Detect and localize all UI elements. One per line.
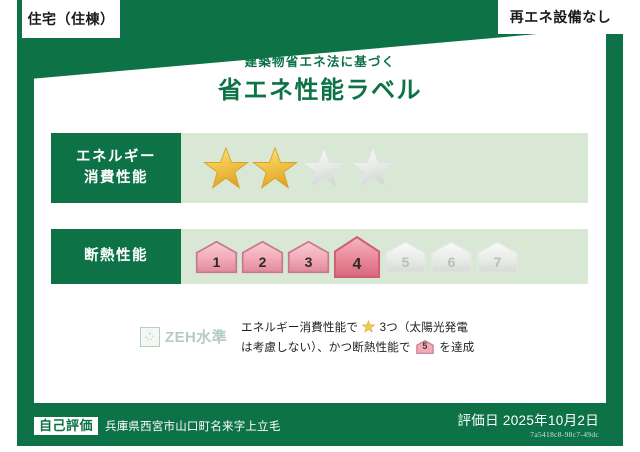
- energy-star-rating: [181, 133, 588, 203]
- label-heading: 建築物省エネ法に基づく 省エネ性能ラベル: [34, 55, 606, 105]
- star-icon-inline: [362, 320, 375, 333]
- insulation-level-scale: 1 2 3 4: [181, 229, 588, 284]
- insulation-level-4-value: 4: [333, 256, 381, 274]
- heading-title: 省エネ性能ラベル: [34, 77, 606, 105]
- insulation-level-5-value: 5: [384, 254, 427, 270]
- energy-performance-label: エネルギー 消費性能: [51, 133, 181, 203]
- zeh-standard-badge: ZEH水準: [140, 326, 227, 347]
- footer-right-group: 評価日 2025年10月2日 7a5418c8-98c7-49dc: [457, 413, 599, 439]
- insulation-level-1-value: 1: [195, 254, 238, 270]
- insulation-level-2-value: 2: [241, 254, 284, 270]
- zeh-desc-line1-pre: エネルギー消費性能で: [241, 321, 358, 334]
- energy-performance-row: エネルギー 消費性能: [51, 133, 588, 203]
- self-evaluation-badge: 自己評価: [34, 417, 98, 436]
- star-icon-empty-3: [301, 145, 347, 191]
- zeh-standard-label: ZEH水準: [165, 326, 227, 347]
- document-hash: 7a5418c8-98c7-49dc: [457, 430, 599, 439]
- star-icon-filled-2: [252, 145, 298, 191]
- label-footer: 自己評価 兵庫県西宮市山口町名来字上立毛 評価日 2025年10月2日 7a54…: [17, 406, 623, 446]
- zeh-description-line2: は考慮しない）、かつ断熱性能で 5 を達成: [241, 338, 474, 358]
- insulation-performance-row: 断熱性能: [51, 229, 588, 284]
- insulation-level-3: 3: [287, 240, 330, 274]
- heading-subtitle: 建築物省エネ法に基づく: [34, 55, 606, 70]
- renewable-energy-tab: 再エネ設備なし: [498, 0, 623, 34]
- zeh-desc-line2-post: を達成: [439, 341, 474, 354]
- zeh-standard-row: ZEH水準 エネルギー消費性能で 3つ（太陽光発電 は考慮しない）、かつ断熱性能…: [140, 318, 580, 359]
- energy-label-line2: 消費性能: [84, 168, 148, 189]
- energy-label-line1: エネルギー: [76, 147, 156, 168]
- building-type-tab: 住宅（住棟）: [22, 0, 120, 38]
- zeh-star-box-icon: [140, 327, 160, 347]
- star-icon-empty-4: [350, 145, 396, 191]
- insulation-level-5: 5: [384, 240, 427, 274]
- zeh-desc-line2-pre: は考慮しない）、かつ断熱性能で: [241, 341, 411, 354]
- zeh-description-line1: エネルギー消費性能で 3つ（太陽光発電: [241, 318, 474, 338]
- insulation-chip-inline: 5: [416, 340, 434, 354]
- insulation-level-3-value: 3: [287, 254, 330, 270]
- energy-performance-label: 住宅（住棟） 再エネ設備なし 建築物省エネ法に基づく 省エネ性能ラベル エネルギ…: [0, 0, 640, 452]
- insulation-level-6-value: 6: [430, 254, 473, 270]
- footer-left-group: 自己評価 兵庫県西宮市山口町名来字上立毛: [34, 417, 281, 436]
- insulation-level-1: 1: [195, 240, 238, 274]
- insulation-chip-inline-value: 5: [416, 339, 434, 355]
- insulation-level-4-current: 4: [333, 235, 381, 279]
- evaluation-date: 評価日 2025年10月2日: [457, 413, 599, 429]
- insulation-level-7: 7: [476, 240, 519, 274]
- insulation-level-7-value: 7: [476, 254, 519, 270]
- insulation-performance-label: 断熱性能: [51, 229, 181, 284]
- zeh-desc-line1-post: 3つ（太陽光発電: [380, 321, 468, 334]
- insulation-level-2: 2: [241, 240, 284, 274]
- star-icon-filled-1: [203, 145, 249, 191]
- property-address: 兵庫県西宮市山口町名来字上立毛: [105, 418, 281, 434]
- zeh-description: エネルギー消費性能で 3つ（太陽光発電 は考慮しない）、かつ断熱性能で 5 を達…: [241, 318, 474, 359]
- insulation-level-6: 6: [430, 240, 473, 274]
- insulation-label-text: 断熱性能: [84, 246, 148, 267]
